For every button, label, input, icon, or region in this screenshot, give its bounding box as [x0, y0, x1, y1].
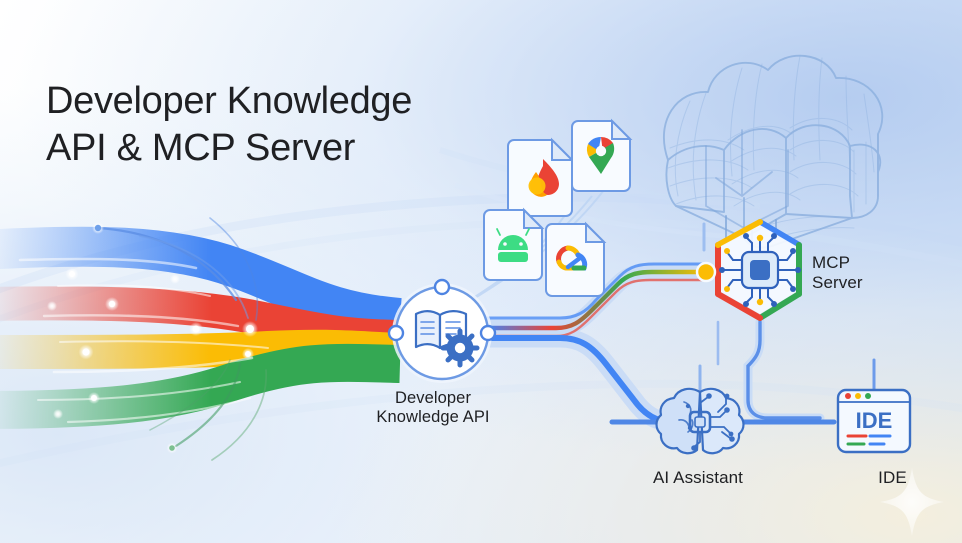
gear-icon [443, 331, 477, 365]
isometric-wireframe-cloud [664, 56, 882, 248]
mcp-left-port [697, 263, 715, 281]
api-node-left-port [389, 326, 403, 340]
mcp-node-label: MCP Server [812, 253, 962, 293]
android-doc-card[interactable] [484, 210, 542, 280]
ai-assistant-node[interactable] [657, 389, 744, 453]
svg-text:IDE: IDE [856, 408, 893, 433]
api-node-label: Developer Knowledge API [313, 389, 553, 428]
ide-node[interactable]: IDE [838, 390, 910, 452]
maps-doc-card[interactable] [572, 121, 630, 191]
illustration-canvas: IDE Developer Knowledge API & MCP Server… [0, 0, 962, 543]
document-cards-group [484, 121, 630, 296]
api-node-right-port [481, 326, 495, 340]
ide-window-icon: IDE [838, 390, 910, 452]
page-title: Developer Knowledge API & MCP Server [46, 78, 412, 171]
api-node-top-port [435, 280, 449, 294]
google-cloud-doc-card[interactable] [546, 224, 604, 296]
brain-circuit-icon [657, 389, 744, 453]
ide-label: IDE [825, 468, 960, 488]
firebase-doc-card[interactable] [508, 140, 572, 216]
ai-assistant-label: AI Assistant [608, 468, 788, 488]
